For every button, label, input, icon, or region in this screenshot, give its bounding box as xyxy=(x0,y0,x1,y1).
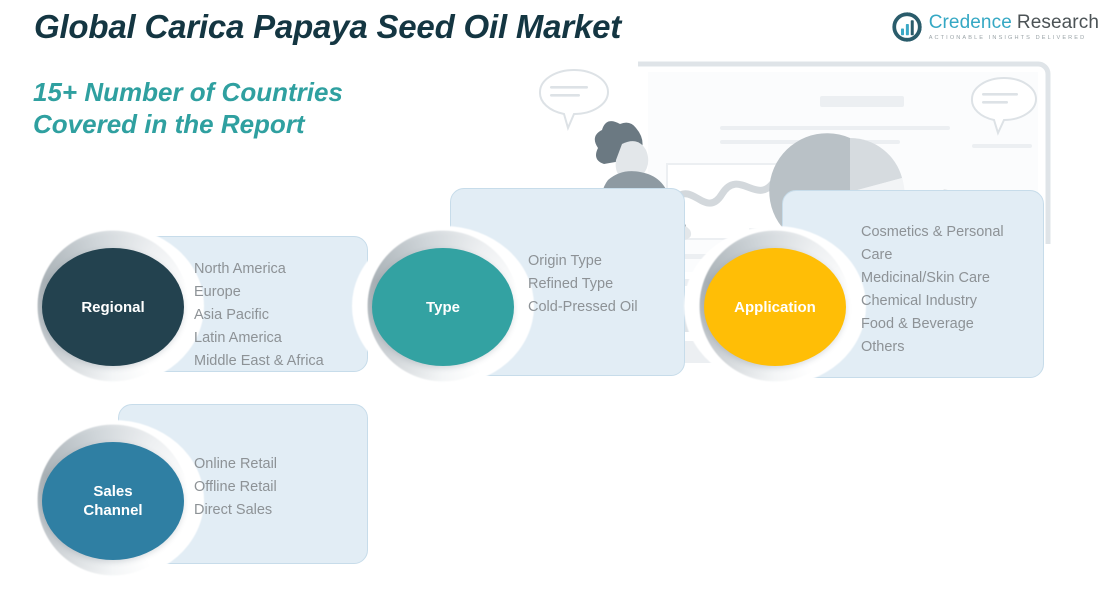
credence-research-logo[interactable]: CredenceResearch Actionable Insights Del… xyxy=(892,12,1099,42)
regional-items: North America Europe Asia Pacific Latin … xyxy=(194,258,374,373)
logo-wordmark: CredenceResearch Actionable Insights Del… xyxy=(929,13,1099,42)
page-title: Global Carica Papaya Seed Oil Market xyxy=(34,8,621,46)
chart-circle-icon xyxy=(892,12,922,42)
page-subtitle: 15+ Number of Countries Covered in the R… xyxy=(33,76,343,140)
infographic-canvas: Global Carica Papaya Seed Oil Market 15+… xyxy=(0,0,1113,592)
regional-bubble[interactable]: Regional xyxy=(42,248,184,366)
application-items: Cosmetics & Personal Care Medicinal/Skin… xyxy=(861,221,1013,359)
logo-brand-primary: Credence xyxy=(929,12,1012,33)
board-bar-1 xyxy=(820,96,904,107)
logo-brand-secondary: Research xyxy=(1017,12,1099,33)
speech-bubble-left-icon xyxy=(540,70,608,128)
type-bubble[interactable]: Type xyxy=(372,248,514,366)
application-bubble[interactable]: Application xyxy=(704,248,846,366)
board-bar-2 xyxy=(720,126,950,130)
logo-tagline: Actionable Insights Delivered xyxy=(929,36,1099,42)
sales-channel-bubble[interactable]: Sales Channel xyxy=(42,442,184,560)
board-bar-6 xyxy=(972,144,1032,148)
sales-channel-items: Online Retail Offline Retail Direct Sale… xyxy=(194,453,359,522)
type-items: Origin Type Refined Type Cold-Pressed Oi… xyxy=(528,250,693,319)
